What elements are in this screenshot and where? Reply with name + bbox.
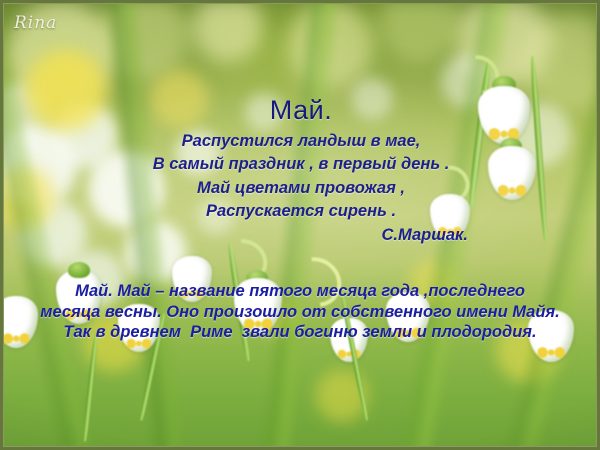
flower-stem — [82, 332, 98, 442]
poem-title: Май. — [120, 96, 482, 126]
paragraph-line-1: Май. Май – название пятого месяца года ,… — [8, 281, 592, 302]
description-paragraph: Май. Май – название пятого месяца года ,… — [8, 281, 592, 343]
poem-line-3: Май цветами провожая , — [120, 177, 482, 200]
watermark-rina: Rina — [14, 13, 57, 33]
poem-line-1: Распустился ландыш в мае, — [120, 130, 482, 153]
greeting-card: Rina Май. Распустился ландыш в мае, В са… — [0, 0, 600, 450]
poem-line-2: В самый праздник , в первый день . — [120, 153, 482, 176]
poem-block: Май. Распустился ландыш в мае, В самый п… — [120, 96, 482, 248]
poem-line-4: Распускается сирень . — [120, 200, 482, 223]
paragraph-line-3: Так в древнем Риме звали богиню земли и … — [8, 322, 592, 343]
flower-cap — [68, 262, 90, 278]
paragraph-line-2: месяца весны. Оно произошло от собственн… — [8, 302, 592, 323]
poem-author-signature: С.Маршак. — [120, 223, 482, 248]
